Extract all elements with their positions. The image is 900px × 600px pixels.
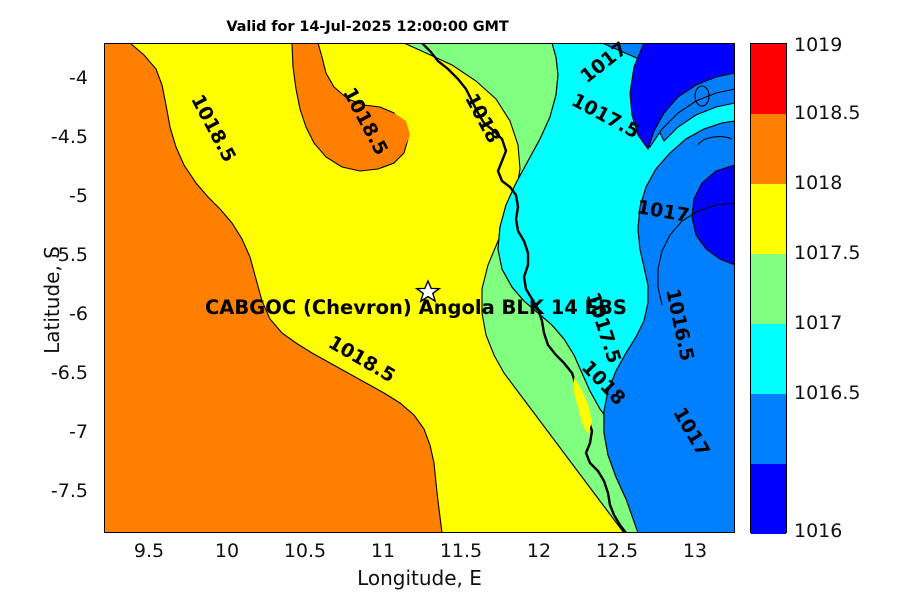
colorbar-segment-1016p5: [751, 394, 786, 464]
y-tick: -7: [30, 421, 88, 443]
colorbar-tick: 1016: [794, 520, 842, 542]
x-tick: 10.5: [265, 540, 345, 562]
station-label: CABGOC (Chevron) Angola BLK 14 EBS: [205, 296, 627, 319]
figure-title: Valid for 14-Jul-2025 12:00:00 GMT: [0, 19, 735, 35]
y-tick: -6.5: [30, 362, 88, 384]
x-tick: 13: [655, 540, 735, 562]
colorbar-segment-1018: [751, 184, 786, 254]
colorbar-tick: 1019: [794, 34, 842, 56]
x-tick: 9.5: [109, 540, 189, 562]
x-tick: 12.5: [577, 540, 657, 562]
colorbar-segment-1016: [751, 464, 786, 534]
colorbar-tick: 1018: [794, 172, 842, 194]
y-tick: -4: [30, 67, 88, 89]
colorbar-tick: 1016.5: [794, 382, 860, 404]
y-tick: -6: [30, 303, 88, 325]
x-tick: 12: [499, 540, 579, 562]
colorbar-tick: 1017.5: [794, 242, 860, 264]
colorbar-tick: 1018.5: [794, 102, 860, 124]
x-tick: 11.5: [421, 540, 501, 562]
colorbar: [750, 43, 787, 533]
x-tick: 11: [343, 540, 423, 562]
y-tick: -5.5: [30, 244, 88, 266]
colorbar-segment-1017: [751, 324, 786, 394]
colorbar-segment-1018p5: [751, 114, 786, 184]
colorbar-tick: 1017: [794, 312, 842, 334]
y-tick: -5: [30, 185, 88, 207]
pressure-map-figure: Valid for 14-Jul-2025 12:00:00 GMT: [0, 0, 900, 600]
y-tick: -4.5: [30, 126, 88, 148]
colorbar-segment-1019: [751, 44, 786, 114]
x-axis-label: Longitude, E: [104, 566, 735, 590]
colorbar-segment-1017p5: [751, 254, 786, 324]
y-tick: -7.5: [30, 480, 88, 502]
x-tick: 10: [187, 540, 267, 562]
